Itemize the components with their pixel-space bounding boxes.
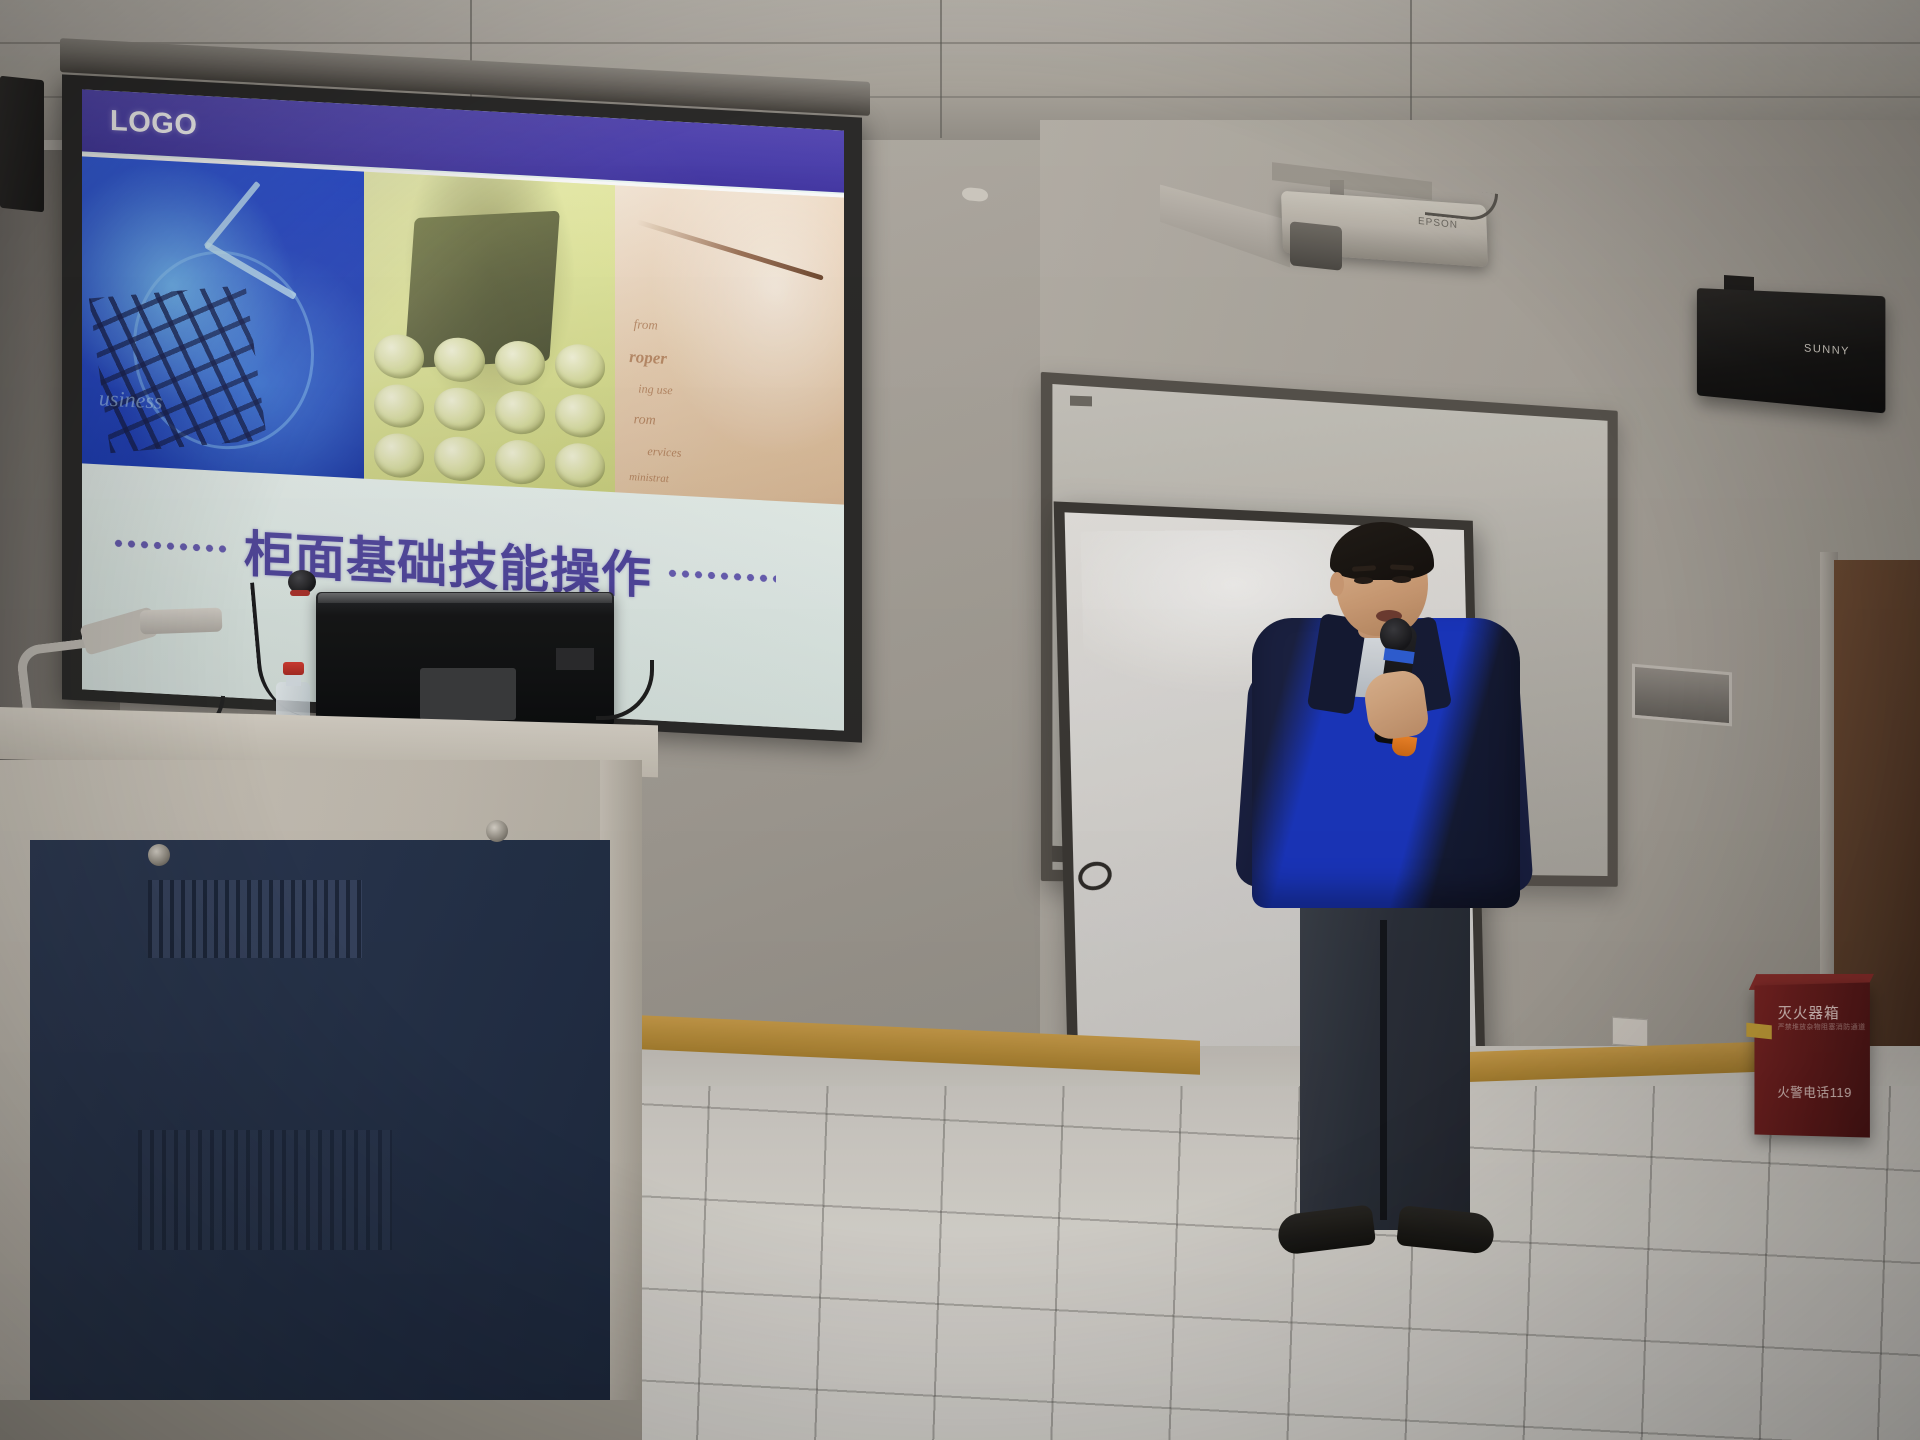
water-bottle-cap[interactable] (283, 662, 304, 675)
wall-vent-grille (1632, 664, 1732, 727)
podium-lock-left[interactable] (148, 844, 170, 866)
podium-lock-right[interactable] (486, 820, 508, 842)
keypad-key (374, 432, 424, 478)
monitor-stand (420, 668, 516, 720)
presenter-eye-left (1354, 577, 1373, 584)
newsprint-word: rom (634, 413, 656, 430)
keypad-key (495, 389, 545, 435)
presenter-shoe-left (1276, 1204, 1376, 1255)
presenter-leg-gap (1380, 920, 1387, 1220)
slide-photo-caption: usiness (99, 385, 163, 414)
slide-photo-pen: from roper ing use rom ervices ministrat (615, 185, 844, 507)
presenter-ear (1330, 572, 1344, 596)
board-clip (1070, 396, 1092, 407)
podium-lamp-head[interactable] (140, 608, 223, 635)
keypad-key (555, 442, 605, 488)
keypad-key (555, 393, 605, 439)
presentation-room-photo: LOGO usiness (0, 0, 1920, 1440)
wall-speaker-right (1697, 288, 1886, 413)
keypad-key (434, 337, 484, 383)
fire-box-sublabel: 严禁堆放杂物阻塞消防通道 (1778, 1022, 1872, 1032)
keypad-key (374, 333, 424, 379)
podium-vent-grille-lower (138, 1130, 392, 1250)
podium-vent-grille (148, 880, 362, 958)
projector-lens (1290, 221, 1342, 270)
podium-base-skirt (0, 1400, 640, 1440)
presenter-eye-right (1392, 576, 1411, 583)
slide-logo: LOGO (110, 105, 197, 143)
fire-box-phone-label: 火警电话119 (1777, 1082, 1852, 1101)
ceiling-tile-line (940, 0, 942, 138)
slide-photo-calculator (364, 172, 615, 496)
newsprint-word: roper (629, 347, 667, 369)
presenter-shoe-right (1396, 1205, 1496, 1255)
keypad-key (495, 340, 545, 386)
keypad-key (434, 386, 484, 432)
fountain-pen-nib (636, 219, 824, 280)
newsprint-word: from (634, 316, 658, 333)
wall-power-outlet (1612, 1017, 1648, 1048)
newsprint-word: ministrat (629, 471, 669, 485)
ceiling-seam (0, 42, 1920, 44)
dot-leader-left-icon (112, 537, 230, 555)
keypad-key (374, 383, 424, 429)
film-strip-graphic (89, 285, 267, 453)
slide-photo-watch: usiness (82, 156, 364, 481)
fire-box-label: 灭火器箱 (1778, 1002, 1868, 1023)
watch-hand (204, 181, 261, 249)
slide-photo-strip: usiness (82, 153, 844, 507)
keypad-key (434, 436, 484, 482)
newsprint-word: ervices (647, 444, 681, 461)
monitor-top-bezel (318, 593, 612, 603)
newsprint-word: ing use (638, 382, 672, 399)
keypad-key (495, 439, 545, 485)
gooseneck-mic-indicator (290, 590, 310, 596)
dot-leader-right-icon (666, 567, 776, 585)
presenter-hair (1330, 522, 1434, 580)
wall-speaker-left (0, 76, 44, 213)
monitor-port (556, 648, 594, 670)
fire-box-yellow-tag (1746, 1023, 1771, 1040)
keypad-key (555, 343, 605, 389)
keypad (374, 333, 605, 488)
presenter (1240, 520, 1580, 1320)
